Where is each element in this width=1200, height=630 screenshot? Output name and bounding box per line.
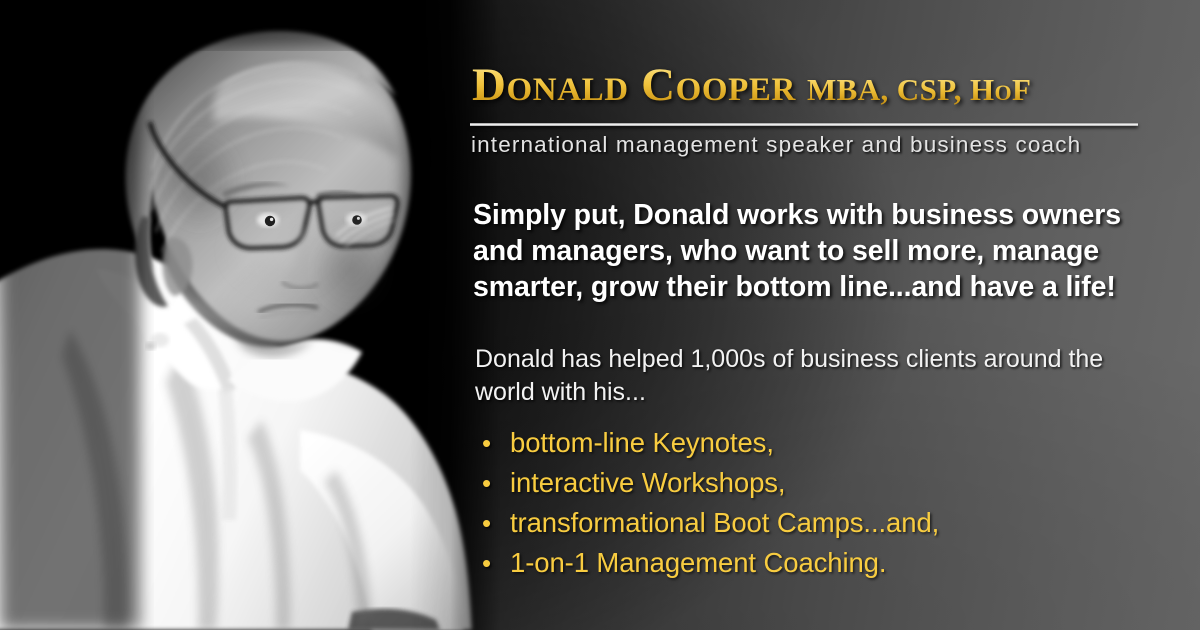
list-item-label: bottom-line Keynotes, [510, 423, 774, 463]
tagline: international management speaker and bus… [471, 132, 1081, 158]
brand-title: Donald Cooper MBA, CSP, HoF [472, 62, 1031, 109]
bullet-icon: • [482, 503, 510, 543]
promotional-banner: Donald Cooper MBA, CSP, HoF internationa… [0, 0, 1200, 630]
bullet-icon: • [482, 423, 510, 463]
bullet-icon: • [482, 543, 510, 583]
list-item-label: transformational Boot Camps...and, [510, 503, 939, 543]
speaker-name: Donald Cooper [472, 62, 796, 109]
list-item: • transformational Boot Camps...and, [482, 503, 939, 543]
list-item: • bottom-line Keynotes, [482, 423, 939, 463]
list-item: • interactive Workshops, [482, 463, 939, 503]
headline-text: Simply put, Donald works with business o… [473, 197, 1173, 305]
portrait-photo [0, 0, 500, 630]
bullet-icon: • [482, 463, 510, 503]
title-divider [470, 123, 1138, 126]
list-item: • 1-on-1 Management Coaching. [482, 543, 939, 583]
list-item-label: interactive Workshops, [510, 463, 785, 503]
list-item-label: 1-on-1 Management Coaching. [510, 543, 886, 583]
text-content: Donald Cooper MBA, CSP, HoF internationa… [470, 0, 1170, 630]
speaker-credentials: MBA, CSP, HoF [807, 74, 1031, 105]
intro-paragraph: Donald has helped 1,000s of business cli… [475, 343, 1155, 409]
services-list: • bottom-line Keynotes, • interactive Wo… [482, 423, 939, 583]
